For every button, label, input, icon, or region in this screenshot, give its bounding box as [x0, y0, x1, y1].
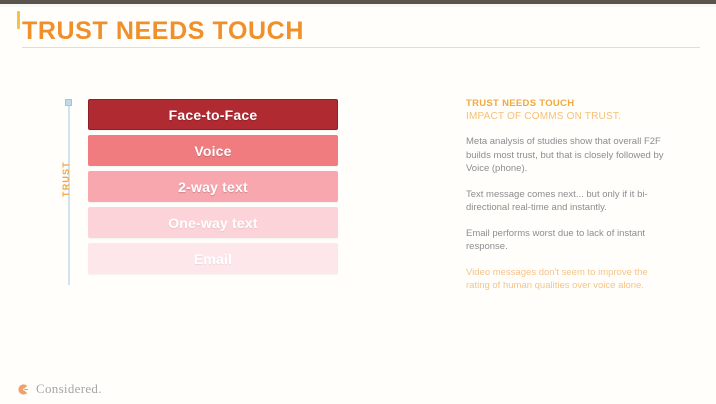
- chart-bar: Voice: [88, 135, 338, 166]
- chart-bar: 2-way text: [88, 171, 338, 202]
- panel-paragraph: Email performs worst due to lack of inst…: [466, 227, 666, 254]
- footer-branding: Considered.: [16, 381, 102, 397]
- trust-axis-label: TRUST: [61, 149, 71, 209]
- panel-paragraph: Meta analysis of studies show that overa…: [466, 135, 666, 176]
- panel-paragraph: Text message comes next... but only if i…: [466, 188, 666, 215]
- chart-bar: One-way text: [88, 207, 338, 238]
- panel-accent-paragraph: Video messages don't seem to improve the…: [466, 266, 666, 293]
- panel-subkicker: IMPACT OF COMMS ON TRUST.: [466, 110, 666, 123]
- chart-bar: Email: [88, 243, 338, 274]
- chart-bar-label: Voice: [194, 143, 231, 159]
- chart-bar-label: Email: [194, 251, 232, 267]
- considered-logo-icon: [16, 383, 29, 396]
- chart-bar-label: One-way text: [168, 215, 258, 231]
- bar-stack: Face-to-Face Voice 2-way text One-way te…: [88, 99, 338, 279]
- chart-bar-label: 2-way text: [178, 179, 248, 195]
- slide-canvas: TRUST NEEDS TOUCH TRUST Face-to-Face Voi…: [0, 0, 716, 404]
- commentary-panel: TRUST NEEDS TOUCH IMPACT OF COMMS ON TRU…: [466, 97, 666, 305]
- trust-axis-arrow-icon: [65, 99, 72, 106]
- footer-brand-name: Considered.: [36, 381, 102, 397]
- chart-bar-label: Face-to-Face: [169, 107, 258, 123]
- chart-bar: Face-to-Face: [88, 99, 338, 130]
- panel-kicker: TRUST NEEDS TOUCH: [466, 97, 666, 110]
